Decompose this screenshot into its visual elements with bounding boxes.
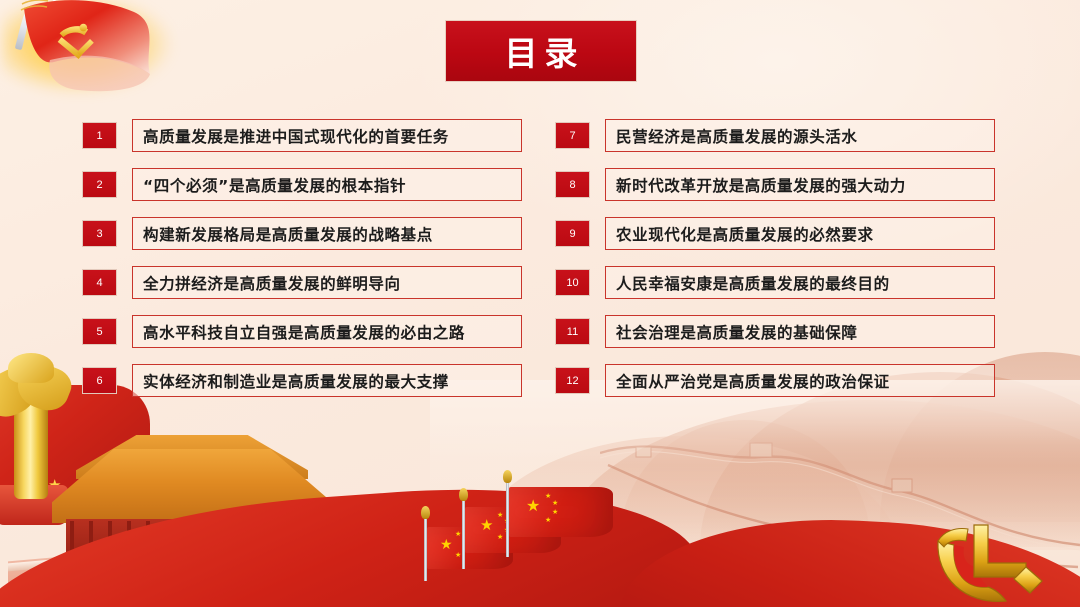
toc-item[interactable]: 9 农业现代化是高质量发展的必然要求 <box>555 217 995 266</box>
toc-item-box[interactable]: 高水平科技自立自强是高质量发展的必由之路 <box>132 315 522 348</box>
toc-item-label: 新时代改革开放是高质量发展的强大动力 <box>606 174 906 196</box>
toc-item[interactable]: 10 人民幸福安康是高质量发展的最终目的 <box>555 266 995 315</box>
slide-root: ★ ★ ★ 中华人民共和国万岁 世界人民大团结万岁 ★ ★ ★ ★ ★ <box>0 0 1080 607</box>
toc-item-number: 3 <box>82 220 117 247</box>
toc-item-number: 10 <box>555 269 590 296</box>
toc-item-number: 12 <box>555 367 590 394</box>
toc-left-column: 1 高质量发展是推进中国式现代化的首要任务 2 “四个必须”是高质量发展的根本指… <box>82 119 522 413</box>
toc-item-box[interactable]: 新时代改革开放是高质量发展的强大动力 <box>605 168 995 201</box>
toc-item-label: 高水平科技自立自强是高质量发展的必由之路 <box>133 321 465 343</box>
slide-content: 目录 1 高质量发展是推进中国式现代化的首要任务 2 “四个必须”是高质量发展的… <box>0 0 1080 607</box>
toc-item-box[interactable]: “四个必须”是高质量发展的根本指针 <box>132 168 522 201</box>
toc-item-number: 8 <box>555 171 590 198</box>
toc-item-label: “四个必须”是高质量发展的根本指针 <box>133 174 406 196</box>
toc-item[interactable]: 6 实体经济和制造业是高质量发展的最大支撑 <box>82 364 522 413</box>
toc-item-box[interactable]: 社会治理是高质量发展的基础保障 <box>605 315 995 348</box>
toc-item-label: 全面从严治党是高质量发展的政治保证 <box>606 370 890 392</box>
toc-item-box[interactable]: 全面从严治党是高质量发展的政治保证 <box>605 364 995 397</box>
toc-item-label: 构建新发展格局是高质量发展的战略基点 <box>133 223 433 245</box>
toc-item-label: 实体经济和制造业是高质量发展的最大支撑 <box>133 370 449 392</box>
toc-item-box[interactable]: 实体经济和制造业是高质量发展的最大支撑 <box>132 364 522 397</box>
toc-item-box[interactable]: 高质量发展是推进中国式现代化的首要任务 <box>132 119 522 152</box>
toc-item[interactable]: 1 高质量发展是推进中国式现代化的首要任务 <box>82 119 522 168</box>
toc-item-number: 2 <box>82 171 117 198</box>
toc-item[interactable]: 11 社会治理是高质量发展的基础保障 <box>555 315 995 364</box>
toc-item-box[interactable]: 民营经济是高质量发展的源头活水 <box>605 119 995 152</box>
toc-item-box[interactable]: 农业现代化是高质量发展的必然要求 <box>605 217 995 250</box>
toc-item[interactable]: 12 全面从严治党是高质量发展的政治保证 <box>555 364 995 413</box>
toc-right-column: 7 民营经济是高质量发展的源头活水 8 新时代改革开放是高质量发展的强大动力 9… <box>555 119 995 413</box>
toc-item[interactable]: 5 高水平科技自立自强是高质量发展的必由之路 <box>82 315 522 364</box>
toc-item-label: 人民幸福安康是高质量发展的最终目的 <box>606 272 890 294</box>
toc-item-box[interactable]: 全力拼经济是高质量发展的鲜明导向 <box>132 266 522 299</box>
toc-item[interactable]: 8 新时代改革开放是高质量发展的强大动力 <box>555 168 995 217</box>
page-title: 目录 <box>498 27 585 75</box>
page-title-banner: 目录 <box>445 20 637 82</box>
toc-item-box[interactable]: 构建新发展格局是高质量发展的战略基点 <box>132 217 522 250</box>
toc-item-number: 11 <box>555 318 590 345</box>
toc-item-number: 7 <box>555 122 590 149</box>
toc-item-label: 社会治理是高质量发展的基础保障 <box>606 321 858 343</box>
toc-item-label: 农业现代化是高质量发展的必然要求 <box>606 223 874 245</box>
toc-item-number: 1 <box>82 122 117 149</box>
toc-item-label: 高质量发展是推进中国式现代化的首要任务 <box>133 125 449 147</box>
toc-item-number: 5 <box>82 318 117 345</box>
toc-item-box[interactable]: 人民幸福安康是高质量发展的最终目的 <box>605 266 995 299</box>
toc-item-number: 4 <box>82 269 117 296</box>
toc-item[interactable]: 4 全力拼经济是高质量发展的鲜明导向 <box>82 266 522 315</box>
toc-item-label: 民营经济是高质量发展的源头活水 <box>606 125 858 147</box>
toc-item-label: 全力拼经济是高质量发展的鲜明导向 <box>133 272 401 294</box>
toc-item[interactable]: 3 构建新发展格局是高质量发展的战略基点 <box>82 217 522 266</box>
toc-item[interactable]: 7 民营经济是高质量发展的源头活水 <box>555 119 995 168</box>
toc-item[interactable]: 2 “四个必须”是高质量发展的根本指针 <box>82 168 522 217</box>
toc-item-number: 9 <box>555 220 590 247</box>
toc-item-number: 6 <box>82 367 117 394</box>
